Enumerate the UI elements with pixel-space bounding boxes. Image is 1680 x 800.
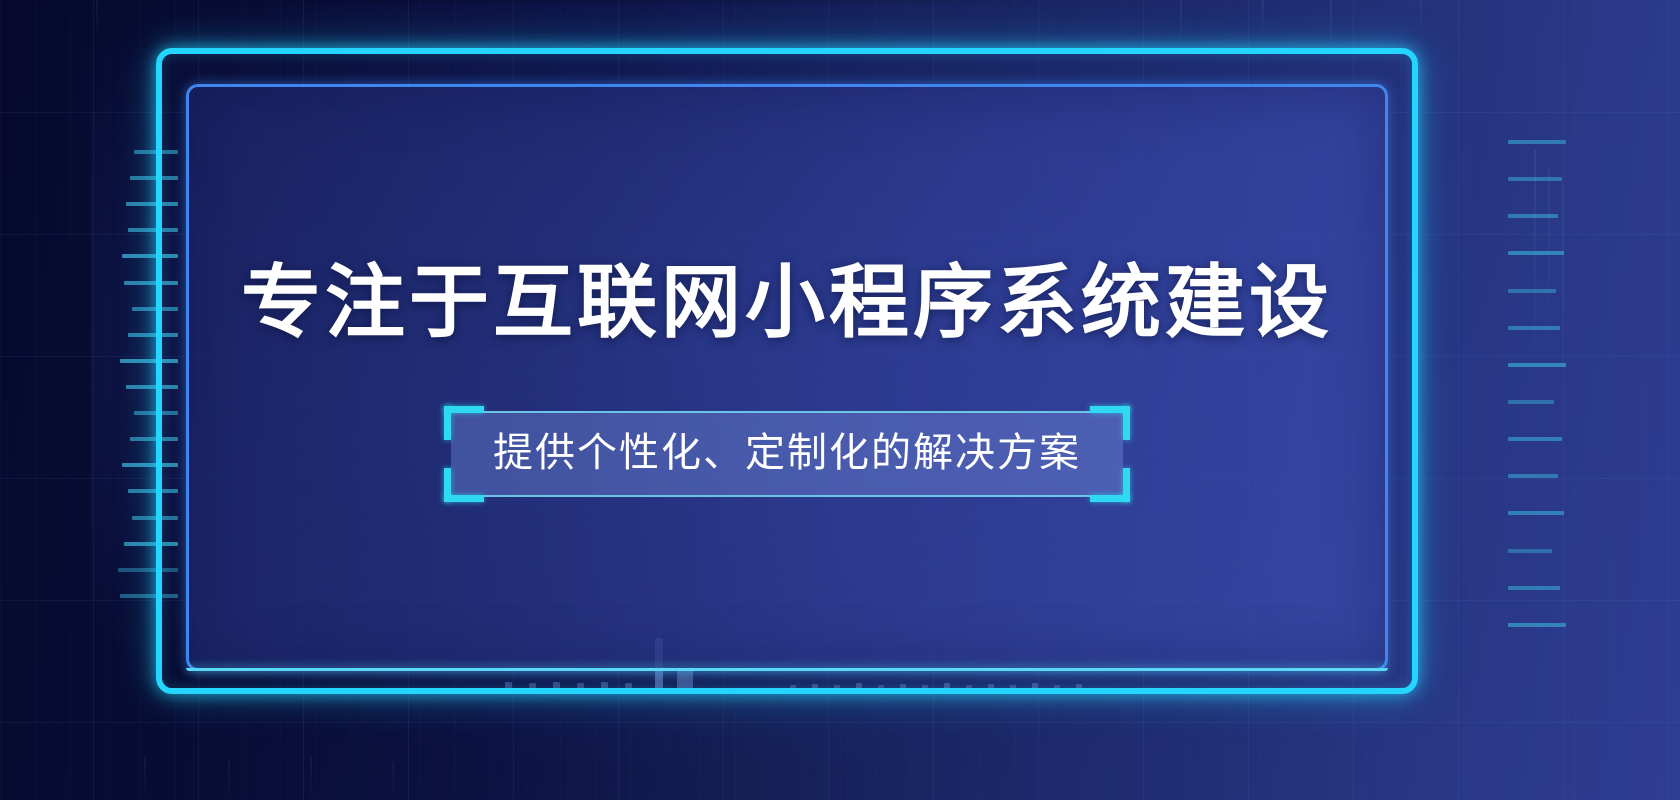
right-tick-ruler-decoration xyxy=(1508,140,1570,660)
ruler-tick xyxy=(118,568,178,572)
decorative-vertical-stroke xyxy=(1420,0,1422,36)
decorative-bar xyxy=(834,685,840,694)
decorative-bar xyxy=(1010,685,1016,694)
decorative-vertical-stroke xyxy=(1562,186,1564,360)
ruler-tick xyxy=(120,594,178,598)
decorative-bar xyxy=(966,685,972,694)
decorative-vertical-stroke xyxy=(1330,0,1332,44)
decorative-bar xyxy=(505,682,512,694)
decorative-bar xyxy=(944,683,950,694)
ruler-tick xyxy=(124,542,178,546)
decorative-bar xyxy=(856,683,862,694)
ruler-tick xyxy=(1508,400,1554,404)
decorative-vertical-stroke xyxy=(228,760,230,800)
ruler-tick xyxy=(130,176,178,180)
ruler-tick xyxy=(132,516,178,520)
decorative-vertical-stroke xyxy=(1262,0,1264,38)
decorative-vertical-stroke xyxy=(144,756,146,800)
decorative-bar xyxy=(677,668,693,694)
left-tick-ruler-decoration xyxy=(118,150,178,620)
decorative-bar xyxy=(1032,683,1038,694)
decorative-bar xyxy=(878,685,884,694)
corner-bracket-top-right-icon xyxy=(1090,406,1130,440)
ruler-tick xyxy=(1508,177,1562,181)
decorative-bar xyxy=(625,683,632,694)
decorative-bar xyxy=(922,685,928,694)
decorative-vertical-stroke xyxy=(392,762,394,800)
ruler-tick xyxy=(134,150,178,154)
bottom-bar-chart-decoration-right xyxy=(790,668,1120,694)
ruler-tick xyxy=(1508,140,1566,144)
ruler-tick xyxy=(130,437,178,441)
ruler-tick xyxy=(120,359,178,363)
ruler-tick xyxy=(122,254,178,258)
ruler-tick xyxy=(124,281,178,285)
decorative-bar xyxy=(601,682,608,694)
ruler-tick xyxy=(132,307,178,311)
hero-banner: 专注于互联网小程序系统建设 提供个性化、定制化的解决方案 xyxy=(0,0,1680,800)
decorative-bar xyxy=(577,683,584,694)
decorative-vertical-stroke xyxy=(96,0,98,40)
decorative-bar xyxy=(900,684,906,694)
ruler-tick xyxy=(1508,437,1562,441)
banner-content: 专注于互联网小程序系统建设 提供个性化、定制化的解决方案 xyxy=(186,84,1388,671)
ruler-tick xyxy=(1508,623,1566,627)
ruler-tick xyxy=(1508,363,1566,367)
ruler-tick xyxy=(1508,214,1558,218)
ruler-tick xyxy=(128,489,178,493)
decorative-bar xyxy=(790,685,796,694)
ruler-tick xyxy=(128,228,178,232)
corner-bracket-bottom-left-icon xyxy=(444,468,484,502)
ruler-tick xyxy=(128,333,178,337)
ruler-tick xyxy=(1508,326,1560,330)
decorative-bar xyxy=(1054,685,1060,694)
decorative-bar xyxy=(812,684,818,694)
corner-bracket-top-left-icon xyxy=(444,406,484,440)
decorative-vertical-stroke xyxy=(1548,168,1550,368)
ruler-tick xyxy=(1508,586,1560,590)
ruler-tick xyxy=(134,411,178,415)
subtitle-text: 提供个性化、定制化的解决方案 xyxy=(493,433,1081,473)
ruler-tick xyxy=(1508,549,1552,553)
ruler-tick xyxy=(1508,511,1564,515)
page-title: 专注于互联网小程序系统建设 xyxy=(241,259,1333,347)
decorative-bar xyxy=(529,683,536,694)
ruler-tick xyxy=(122,463,178,467)
ruler-tick xyxy=(1508,251,1564,255)
ruler-tick xyxy=(1508,474,1558,478)
decorative-vertical-stroke xyxy=(1180,0,1182,46)
subtitle-box: 提供个性化、定制化的解决方案 xyxy=(451,411,1123,497)
decorative-bar xyxy=(553,682,560,694)
decorative-vertical-stroke xyxy=(310,756,312,800)
ruler-tick xyxy=(126,385,178,389)
ruler-tick xyxy=(1508,289,1556,293)
ruler-tick xyxy=(126,202,178,206)
decorative-bar xyxy=(988,684,994,694)
corner-bracket-bottom-right-icon xyxy=(1090,468,1130,502)
decorative-bar xyxy=(1076,684,1082,694)
decorative-vertical-stroke xyxy=(1534,150,1536,380)
